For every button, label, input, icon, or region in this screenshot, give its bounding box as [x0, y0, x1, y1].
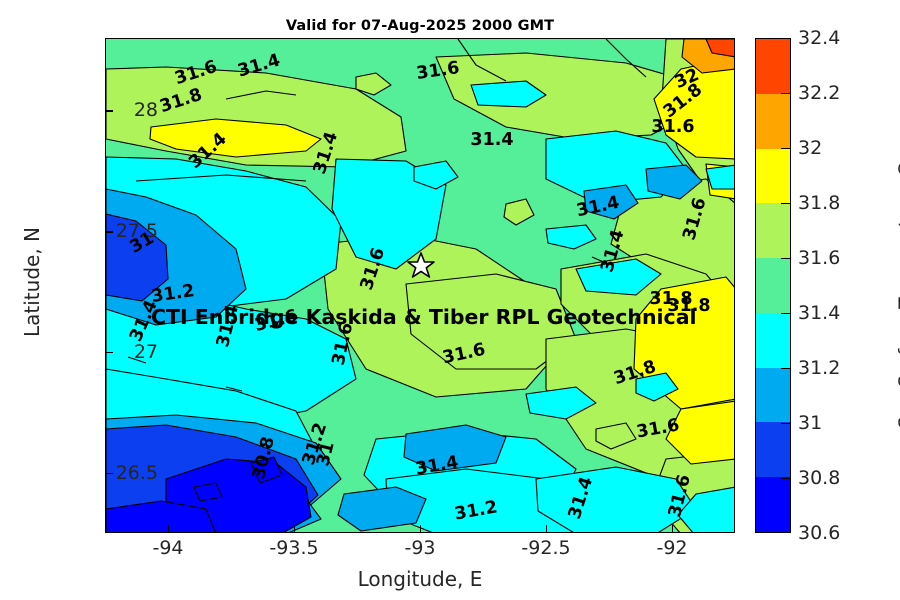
colorbar-band [756, 422, 790, 477]
contour-label: 31.4 [470, 130, 513, 150]
sst-contour-figure: Valid for 07-Aug-2025 2000 GMT [0, 0, 900, 600]
colorbar-tick-mark [781, 148, 790, 149]
x-axis-tick: -92 [656, 537, 687, 559]
colorbar-tick: 31.8 [798, 192, 840, 214]
x-tick-mark [420, 525, 421, 533]
colorbar-tick: 31 [798, 412, 822, 434]
colorbar-tick: 32.4 [798, 27, 840, 49]
colorbar-tick-mark [781, 368, 790, 369]
colorbar-tick-mark [781, 478, 790, 479]
colorbar-tick-mark [781, 93, 790, 94]
x-axis-tick: -94 [152, 537, 183, 559]
figure-title: Valid for 07-Aug-2025 2000 GMT [105, 18, 735, 34]
x-axis-tick: -93 [404, 537, 435, 559]
y-tick-mark [105, 231, 113, 232]
colorbar-band [756, 258, 790, 313]
colorbar-band [756, 203, 790, 258]
y-tick-mark [105, 110, 113, 111]
x-axis-tick: -92.5 [521, 537, 570, 559]
y-axis-label: Latitude, N [20, 162, 44, 402]
colorbar-tick: 32 [798, 137, 822, 159]
star-marker [406, 251, 436, 281]
colorbar-band [756, 39, 790, 94]
colorbar-tick: 31.2 [798, 357, 840, 379]
colorbar [755, 38, 791, 533]
y-axis-tick: 28 [134, 99, 158, 121]
y-axis-tick: 27.5 [116, 220, 158, 242]
colorbar-label: Sea Surface Temperature, C [895, 116, 900, 476]
colorbar-tick: 30.6 [798, 522, 840, 544]
colorbar-tick-mark [781, 203, 790, 204]
colorbar-tick-mark [781, 423, 790, 424]
colorbar-tick-mark [781, 258, 790, 259]
x-tick-mark [294, 525, 295, 533]
colorbar-band [756, 313, 790, 368]
colorbar-band [756, 94, 790, 149]
station-annotation: CTI Enbridge Kaskida & Tiber RPL Geotech… [151, 305, 697, 329]
y-axis-tick: 27 [134, 341, 158, 363]
x-tick-mark [546, 525, 547, 533]
colorbar-band [756, 368, 790, 423]
colorbar-band [756, 149, 790, 204]
x-tick-mark [672, 525, 673, 533]
colorbar-tick: 32.2 [798, 82, 840, 104]
colorbar-band [756, 477, 790, 532]
colorbar-tick: 30.8 [798, 467, 840, 489]
colorbar-tick-mark [781, 313, 790, 314]
x-axis-tick: -93.5 [269, 537, 318, 559]
y-tick-mark [105, 473, 113, 474]
colorbar-tick: 31.4 [798, 302, 840, 324]
y-axis-tick: 26.5 [116, 462, 158, 484]
colorbar-tick: 31.6 [798, 247, 840, 269]
x-tick-mark [168, 525, 169, 533]
contour-label: 31.6 [651, 117, 694, 137]
x-axis-label: Longitude, E [105, 567, 735, 591]
y-tick-mark [105, 352, 113, 353]
contour-plot-area: 31.631.431.63231.831.831.631.431.431.431… [105, 38, 735, 533]
